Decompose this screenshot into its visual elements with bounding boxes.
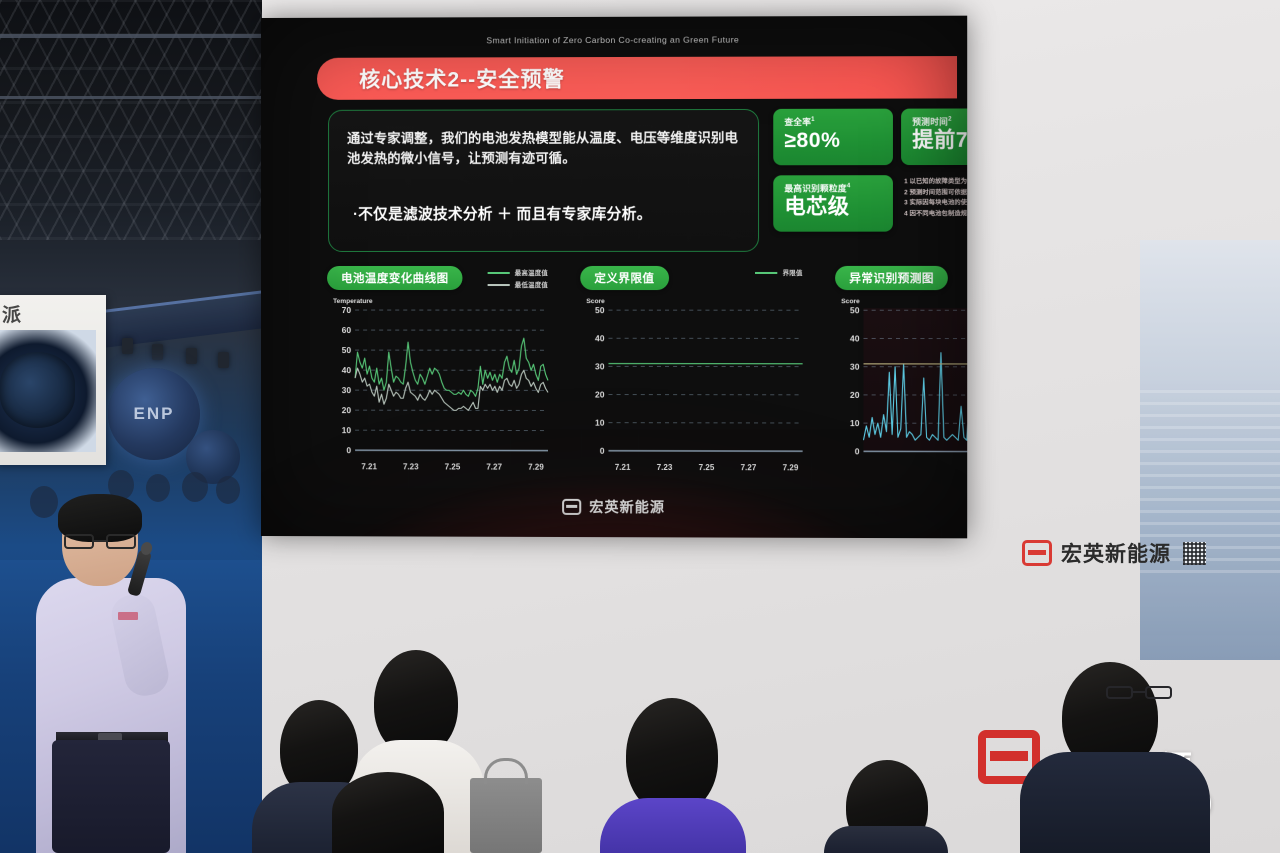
chart-battery-temperature: 电池温度变化曲线图 最高温度值 最低温度值 Temperature 706050… bbox=[327, 266, 550, 485]
qr-code-icon bbox=[1183, 542, 1206, 565]
presentation-slide: Smart Initiation of Zero Carbon Co-creat… bbox=[261, 16, 967, 539]
x-axis-tick: 7.29 bbox=[528, 463, 544, 472]
chart-title: 异常识别预测图 bbox=[835, 266, 948, 290]
background-attendee bbox=[182, 472, 208, 502]
background-attendee bbox=[146, 474, 170, 502]
body-paragraph-2: ·不仅是滤波技术分析 ＋ 而且有专家库分析。 bbox=[353, 203, 748, 224]
footnotes: 1 以已知的故障类型为基础，实际因场景和电池材料不同有区别 。 2 预测时间范围… bbox=[904, 177, 967, 220]
chart-plot-area: 50403020100 bbox=[835, 308, 967, 460]
glasses-icon bbox=[64, 534, 136, 549]
chart-title: 定义界限值 bbox=[580, 266, 668, 290]
x-axis-tick: 7.23 bbox=[657, 463, 673, 472]
body-paragraph-1: 通过专家调整，我们的电池发热模型能从温度、电压等维度识别电池发热的微小信号，让预… bbox=[347, 128, 744, 170]
footnote-item: 1 以已知的故障类型为基础，实际因场景和电池材料不同有区别 。 bbox=[904, 177, 967, 188]
kpi-label: 预测时间2 bbox=[912, 115, 967, 127]
chart-legend: 界限值 bbox=[755, 268, 802, 280]
wall-brand-name: 宏英新能源 bbox=[1061, 538, 1171, 568]
audience-member bbox=[626, 698, 718, 814]
background-attendee bbox=[216, 476, 240, 504]
spotlight-icon bbox=[218, 352, 229, 368]
audience-member-body bbox=[824, 826, 948, 853]
slide-body-card: 通过专家调整，我们的电池发热模型能从温度、电压等维度识别电池发热的微小信号，让预… bbox=[328, 109, 759, 252]
glasses-icon bbox=[1106, 686, 1172, 699]
legend-label: 最低温度值 bbox=[515, 280, 548, 289]
x-axis-tick: 7.25 bbox=[699, 463, 715, 472]
page-title: 核心技术2--安全预警 bbox=[359, 63, 565, 94]
legend-label: 最高温度值 bbox=[515, 268, 548, 277]
kpi-card-lead-time: 预测时间2 提前7天 bbox=[901, 108, 967, 165]
legend-item: 界限值 bbox=[755, 268, 802, 277]
hall-background-right bbox=[1140, 240, 1280, 660]
chart-title: 电池温度变化曲线图 bbox=[327, 266, 463, 290]
kpi-value: ≥80% bbox=[784, 129, 882, 153]
audience-member-body bbox=[600, 798, 746, 853]
kpi-value: 提前7天 bbox=[912, 129, 967, 153]
chart-anomaly-prediction: 异常识别预测图 界限值 Score 50403020100 bbox=[835, 266, 967, 486]
exhibition-hall-photo: ENP 派 Smart Initiation of Zero Carbon Co… bbox=[0, 0, 1280, 853]
presenter-trousers bbox=[52, 740, 170, 853]
x-axis-tick: 7.29 bbox=[783, 463, 799, 472]
x-axis-tick: 7.25 bbox=[445, 462, 461, 471]
chart-svg bbox=[835, 308, 967, 460]
handbag bbox=[470, 778, 542, 853]
booth-panel-label: 派 bbox=[2, 300, 22, 327]
booth-rail bbox=[94, 289, 274, 349]
spotlight-icon bbox=[152, 344, 163, 360]
x-axis-tick: 7.23 bbox=[403, 462, 419, 471]
truss-beam bbox=[0, 96, 262, 99]
truss-beam bbox=[0, 34, 262, 38]
booth-logo-enp: ENP bbox=[108, 368, 200, 460]
slide-subtitle: Smart Initiation of Zero Carbon Co-creat… bbox=[261, 34, 967, 46]
footnote-item: 4 因不同电池包制造规格和数据质量而有不同。 bbox=[904, 209, 967, 220]
slide-footer-brand: 宏英新能源 bbox=[562, 497, 665, 517]
kpi-card-recall: 查全率1 ≥80% bbox=[773, 109, 893, 166]
chart-plot-area: 504030201007.217.237.257.277.29 bbox=[580, 308, 804, 459]
x-axis-tick: 7.27 bbox=[741, 463, 757, 472]
footnote-item: 2 预测时间范围可依据需求调整，以实际结果为准。 bbox=[904, 188, 967, 199]
kpi-footnote-ref: 2 bbox=[948, 117, 952, 123]
audience-member bbox=[332, 772, 444, 853]
legend-swatch-icon bbox=[488, 271, 510, 273]
x-axis-tick: 7.27 bbox=[486, 463, 502, 472]
audience-member-body bbox=[1020, 752, 1210, 853]
legend-label: 界限值 bbox=[783, 268, 803, 277]
kpi-footnote-ref: 1 bbox=[811, 117, 815, 123]
x-axis-tick: 7.21 bbox=[615, 463, 631, 472]
legend-item: 最高温度值 bbox=[488, 268, 548, 277]
legend-item: 最低温度值 bbox=[488, 280, 548, 289]
kpi-value: 电芯级 bbox=[784, 195, 882, 219]
hongying-logo-icon bbox=[1022, 540, 1052, 566]
y-axis-label: Score bbox=[586, 298, 604, 305]
booth-product-image bbox=[0, 330, 96, 452]
chart-svg bbox=[327, 308, 550, 459]
legend-swatch-icon bbox=[755, 271, 777, 273]
y-axis-label: Score bbox=[841, 298, 860, 305]
chart-plot-area: 7060504030201007.217.237.257.277.29 bbox=[327, 308, 550, 459]
wall-brand-logo: 宏英新能源 bbox=[1022, 538, 1206, 568]
booth-logo-enp-label: ENP bbox=[134, 404, 175, 424]
x-axis-tick: 7.21 bbox=[361, 462, 377, 471]
kpi-label: 查全率1 bbox=[784, 116, 882, 128]
chart-legend: 最高温度值 最低温度值 bbox=[488, 268, 548, 292]
slide-footer-brand-label: 宏英新能源 bbox=[589, 497, 665, 517]
spotlight-icon bbox=[186, 348, 197, 364]
hongying-logo-icon bbox=[562, 499, 581, 515]
kpi-footnote-ref: 4 bbox=[847, 183, 851, 189]
chart-svg bbox=[580, 308, 804, 459]
spotlight-icon bbox=[122, 338, 133, 354]
background-attendee bbox=[30, 486, 58, 518]
kpi-card-granularity: 最高识别颗粒度4 电芯级 bbox=[773, 175, 893, 232]
presenter-logo-badge bbox=[118, 612, 138, 620]
legend-swatch-icon bbox=[488, 284, 510, 286]
y-axis-label: Temperature bbox=[333, 298, 373, 305]
footnote-item: 3 实际因每块电池的使用场景不同而有差异。 bbox=[904, 198, 967, 209]
chart-threshold-definition: 定义界限值 界限值 Score 504030201007.217.237.257… bbox=[580, 266, 804, 486]
slide-title-banner: 核心技术2--安全预警 bbox=[317, 56, 957, 100]
kpi-label: 最高识别颗粒度4 bbox=[784, 182, 882, 194]
